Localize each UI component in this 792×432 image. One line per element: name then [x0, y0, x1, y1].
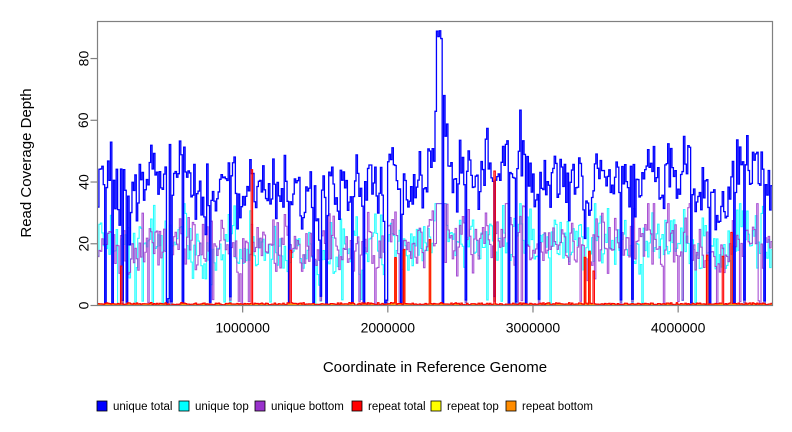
chart-container: 020406080 1000000200000030000004000000 C… — [0, 0, 792, 432]
legend-swatch-unique-bottom — [255, 401, 265, 411]
legend-label-unique-bottom: unique bottom — [271, 401, 344, 413]
legend-label-repeat-total: repeat total — [368, 401, 426, 413]
legend-swatch-repeat-total — [352, 401, 362, 411]
y-tick-label: 60 — [75, 112, 91, 128]
legend-label-unique-total: unique total — [113, 401, 172, 413]
x-tick-label: 4000000 — [651, 320, 706, 336]
x-tick-label: 1000000 — [215, 320, 270, 336]
legend-swatch-repeat-bottom — [506, 401, 516, 411]
legend-swatch-unique-total — [97, 401, 107, 411]
y-tick-label: 40 — [75, 174, 91, 190]
legend-swatch-unique-top — [179, 401, 189, 411]
x-axis-title: Coordinate in Reference Genome — [323, 359, 547, 376]
legend-label-repeat-bottom: repeat bottom — [522, 401, 593, 413]
coverage-depth-plot: 020406080 1000000200000030000004000000 C… — [0, 0, 792, 432]
x-tick-label: 2000000 — [361, 320, 416, 336]
y-tick-label: 20 — [75, 236, 91, 252]
y-axis-title: Read Coverage Depth — [18, 88, 35, 237]
y-tick-label: 0 — [75, 301, 91, 309]
x-tick-label: 3000000 — [506, 320, 561, 336]
legend-label-unique-top: unique top — [195, 401, 249, 413]
y-tick-label: 80 — [75, 51, 91, 67]
legend-label-repeat-top: repeat top — [447, 401, 499, 413]
legend-swatch-repeat-top — [431, 401, 441, 411]
